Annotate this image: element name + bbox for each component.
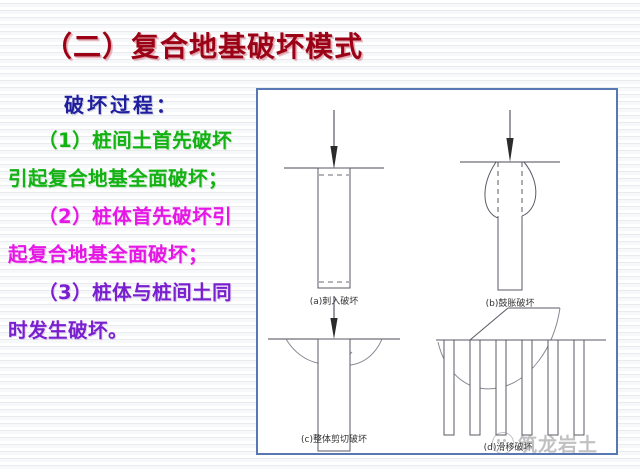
figure-d-sliding-failure: (d)滑移破坏 bbox=[436, 308, 606, 453]
slide-canvas: （二）复合地基破坏模式 破坏过程： （1）桩间土首先破坏引起复合地基全面破坏； … bbox=[0, 0, 640, 469]
figure-c-overall-shear-failure: (c)整体剪切破坏 bbox=[268, 296, 400, 451]
pile-d-2 bbox=[470, 340, 480, 435]
process-heading: 破坏过程： bbox=[8, 88, 248, 122]
load-arrow-head-c bbox=[330, 318, 337, 339]
pile-d-5 bbox=[548, 340, 558, 435]
page-title: （二）复合地基破坏模式 bbox=[44, 26, 374, 68]
bulge-left-outline-b bbox=[485, 162, 498, 218]
load-arrow-head-b bbox=[506, 138, 513, 162]
pile-d-6 bbox=[574, 340, 584, 435]
figure-b-bulging-failure: (b)鼓胀破坏 bbox=[460, 110, 560, 309]
figure-b-caption: (b)鼓胀破坏 bbox=[486, 297, 535, 309]
bulge-right-outline-b bbox=[522, 162, 536, 216]
load-arrow-head-a bbox=[330, 146, 337, 169]
figure-a-punching-failure: (a)刺入破坏 bbox=[284, 110, 384, 307]
pile-body-a bbox=[318, 168, 350, 288]
pile-d-3 bbox=[496, 340, 506, 435]
pile-d-1 bbox=[444, 340, 454, 435]
failure-item-2: （2）桩体首先破坏引起复合地基全面破坏； bbox=[8, 198, 248, 274]
pile-shaft-b bbox=[498, 216, 522, 290]
figure-d-caption: (d)滑移破坏 bbox=[484, 441, 533, 453]
failure-modes-svg: (a)刺入破坏 (b)鼓胀破坏 bbox=[258, 90, 616, 453]
content-text-block: 破坏过程： （1）桩间土首先破坏引起复合地基全面破坏； （2）桩体首先破坏引起复… bbox=[8, 88, 248, 463]
figure-c-caption: (c)整体剪切破坏 bbox=[301, 433, 367, 445]
failure-item-3: （3）桩体与桩间土同时发生破坏。 bbox=[8, 274, 248, 350]
failure-item-1: （1）桩间土首先破坏引起复合地基全面破坏； bbox=[8, 122, 248, 198]
slide-title: （二）复合地基破坏模式 bbox=[44, 26, 374, 68]
embankment-left-slope-d bbox=[470, 308, 508, 340]
failure-modes-diagram-panel: (a)刺入破坏 (b)鼓胀破坏 bbox=[256, 88, 618, 455]
pile-d-4 bbox=[522, 340, 532, 435]
